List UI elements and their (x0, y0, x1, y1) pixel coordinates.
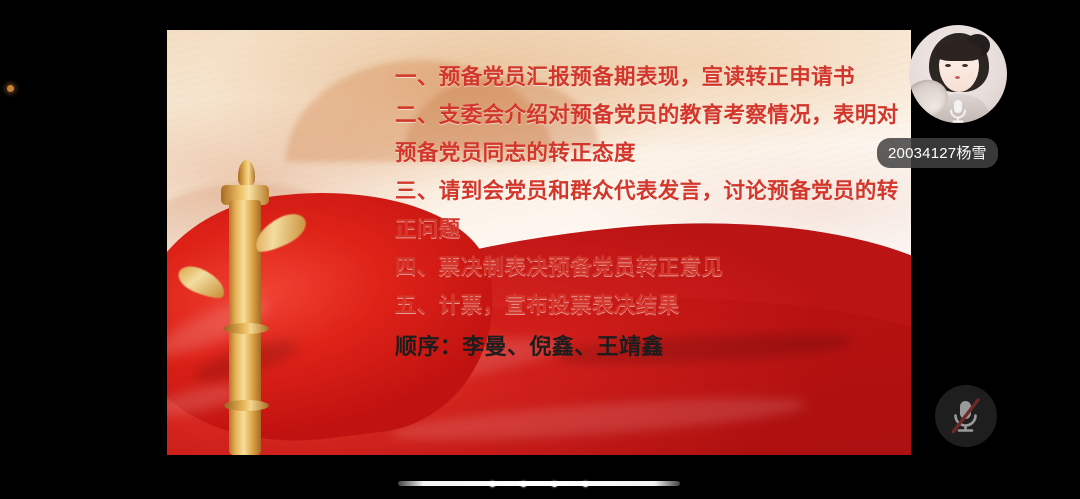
slide-line: 预备党员同志的转正态度 (395, 134, 905, 172)
avatar-lips (955, 76, 960, 79)
slide-line: 三、请到会党员和群众代表发言，讨论预备党员的转 (395, 172, 905, 210)
slide-line: 一、预备党员汇报预备期表现，宣读转正申请书 (395, 58, 905, 96)
scrubber-dot[interactable] (521, 481, 527, 487)
self-view-tile[interactable]: 20034127杨雪 (909, 25, 1007, 123)
page-scrubber[interactable] (398, 481, 680, 486)
microphone-icon (947, 97, 969, 125)
slide-line: 二、支委会介绍对预备党员的教育考察情况，表明对 (395, 96, 905, 134)
scrubber-dot[interactable] (583, 481, 589, 487)
huabiao-ring (224, 400, 269, 411)
video-call-screen: 一、预备党员汇报预备期表现，宣读转正申请书 二、支委会介绍对预备党员的教育考察情… (0, 0, 1080, 499)
slide-line: 四、票决制表决预备党员转正意见 (395, 248, 905, 286)
mute-toggle-button[interactable] (935, 385, 997, 447)
slide-line: 五、计票，宣布投票表决结果 (395, 286, 905, 324)
slide-text-block: 一、预备党员汇报预备期表现，宣读转正申请书 二、支委会介绍对预备党员的教育考察情… (395, 58, 905, 366)
scrubber-dot[interactable] (490, 481, 496, 487)
slide-line-order: 顺序：李曼、倪鑫、王靖鑫 (395, 328, 905, 366)
scrubber-dots (490, 481, 589, 487)
slide-line: 正问题 (395, 210, 905, 248)
shared-slide[interactable]: 一、预备党员汇报预备期表现，宣读转正申请书 二、支委会介绍对预备党员的教育考察情… (167, 30, 911, 455)
microphone-muted-icon (949, 396, 983, 436)
participant-name-chip: 20034127杨雪 (877, 138, 998, 168)
recording-dot (7, 85, 14, 92)
scrubber-dot[interactable] (552, 481, 558, 487)
